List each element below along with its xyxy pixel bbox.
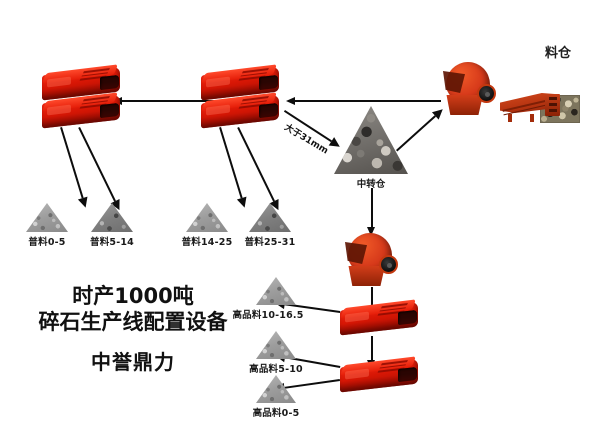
product-pile-standard-25-31 [249, 203, 291, 232]
product-label-standard-0-5: 普料0-5 [28, 234, 65, 248]
vibrating-screen-4 [197, 96, 283, 129]
title-line-2: 碎石生产线配置设备 [18, 312, 248, 333]
product-label-standard-25-31: 普料25-31 [245, 234, 296, 248]
primary-hammer-crusher [440, 62, 500, 118]
product-pile-standard-0-5 [26, 203, 68, 232]
title-line-1: 时产1000吨 [18, 286, 248, 307]
buffer-stockpile [334, 106, 408, 174]
product-pile-premium-10-16-5 [256, 277, 296, 305]
title-block: 时产1000吨 碎石生产线配置设备 中誉鼎力 [18, 286, 248, 372]
arrow-buffer-down [367, 188, 377, 236]
product-label-premium-5-10: 高品料5-10 [249, 361, 303, 375]
silo-label: 料仓 [545, 42, 571, 61]
product-pile-standard-5-14 [91, 203, 133, 232]
product-pile-premium-0-5 [256, 375, 296, 403]
vibrating-screen-2 [38, 96, 124, 129]
product-label-standard-14-25: 普料14-25 [182, 234, 233, 248]
title-line-3: 中誉鼎力 [18, 352, 248, 372]
secondary-hammer-crusher [342, 233, 402, 289]
product-label-standard-5-14: 普料5-14 [90, 234, 134, 248]
vibrating-screen-5 [336, 303, 422, 336]
product-pile-premium-5-10 [256, 331, 296, 359]
flow-diagram-canvas: 料仓 中转仓 大于31mm [0, 0, 600, 424]
vibrating-feeder [500, 88, 562, 122]
product-label-premium-0-5: 高品料0-5 [253, 405, 300, 419]
product-pile-standard-14-25 [186, 203, 228, 232]
vibrating-screen-6 [336, 360, 422, 393]
arrow-crusher-to-screens-right [286, 96, 441, 106]
